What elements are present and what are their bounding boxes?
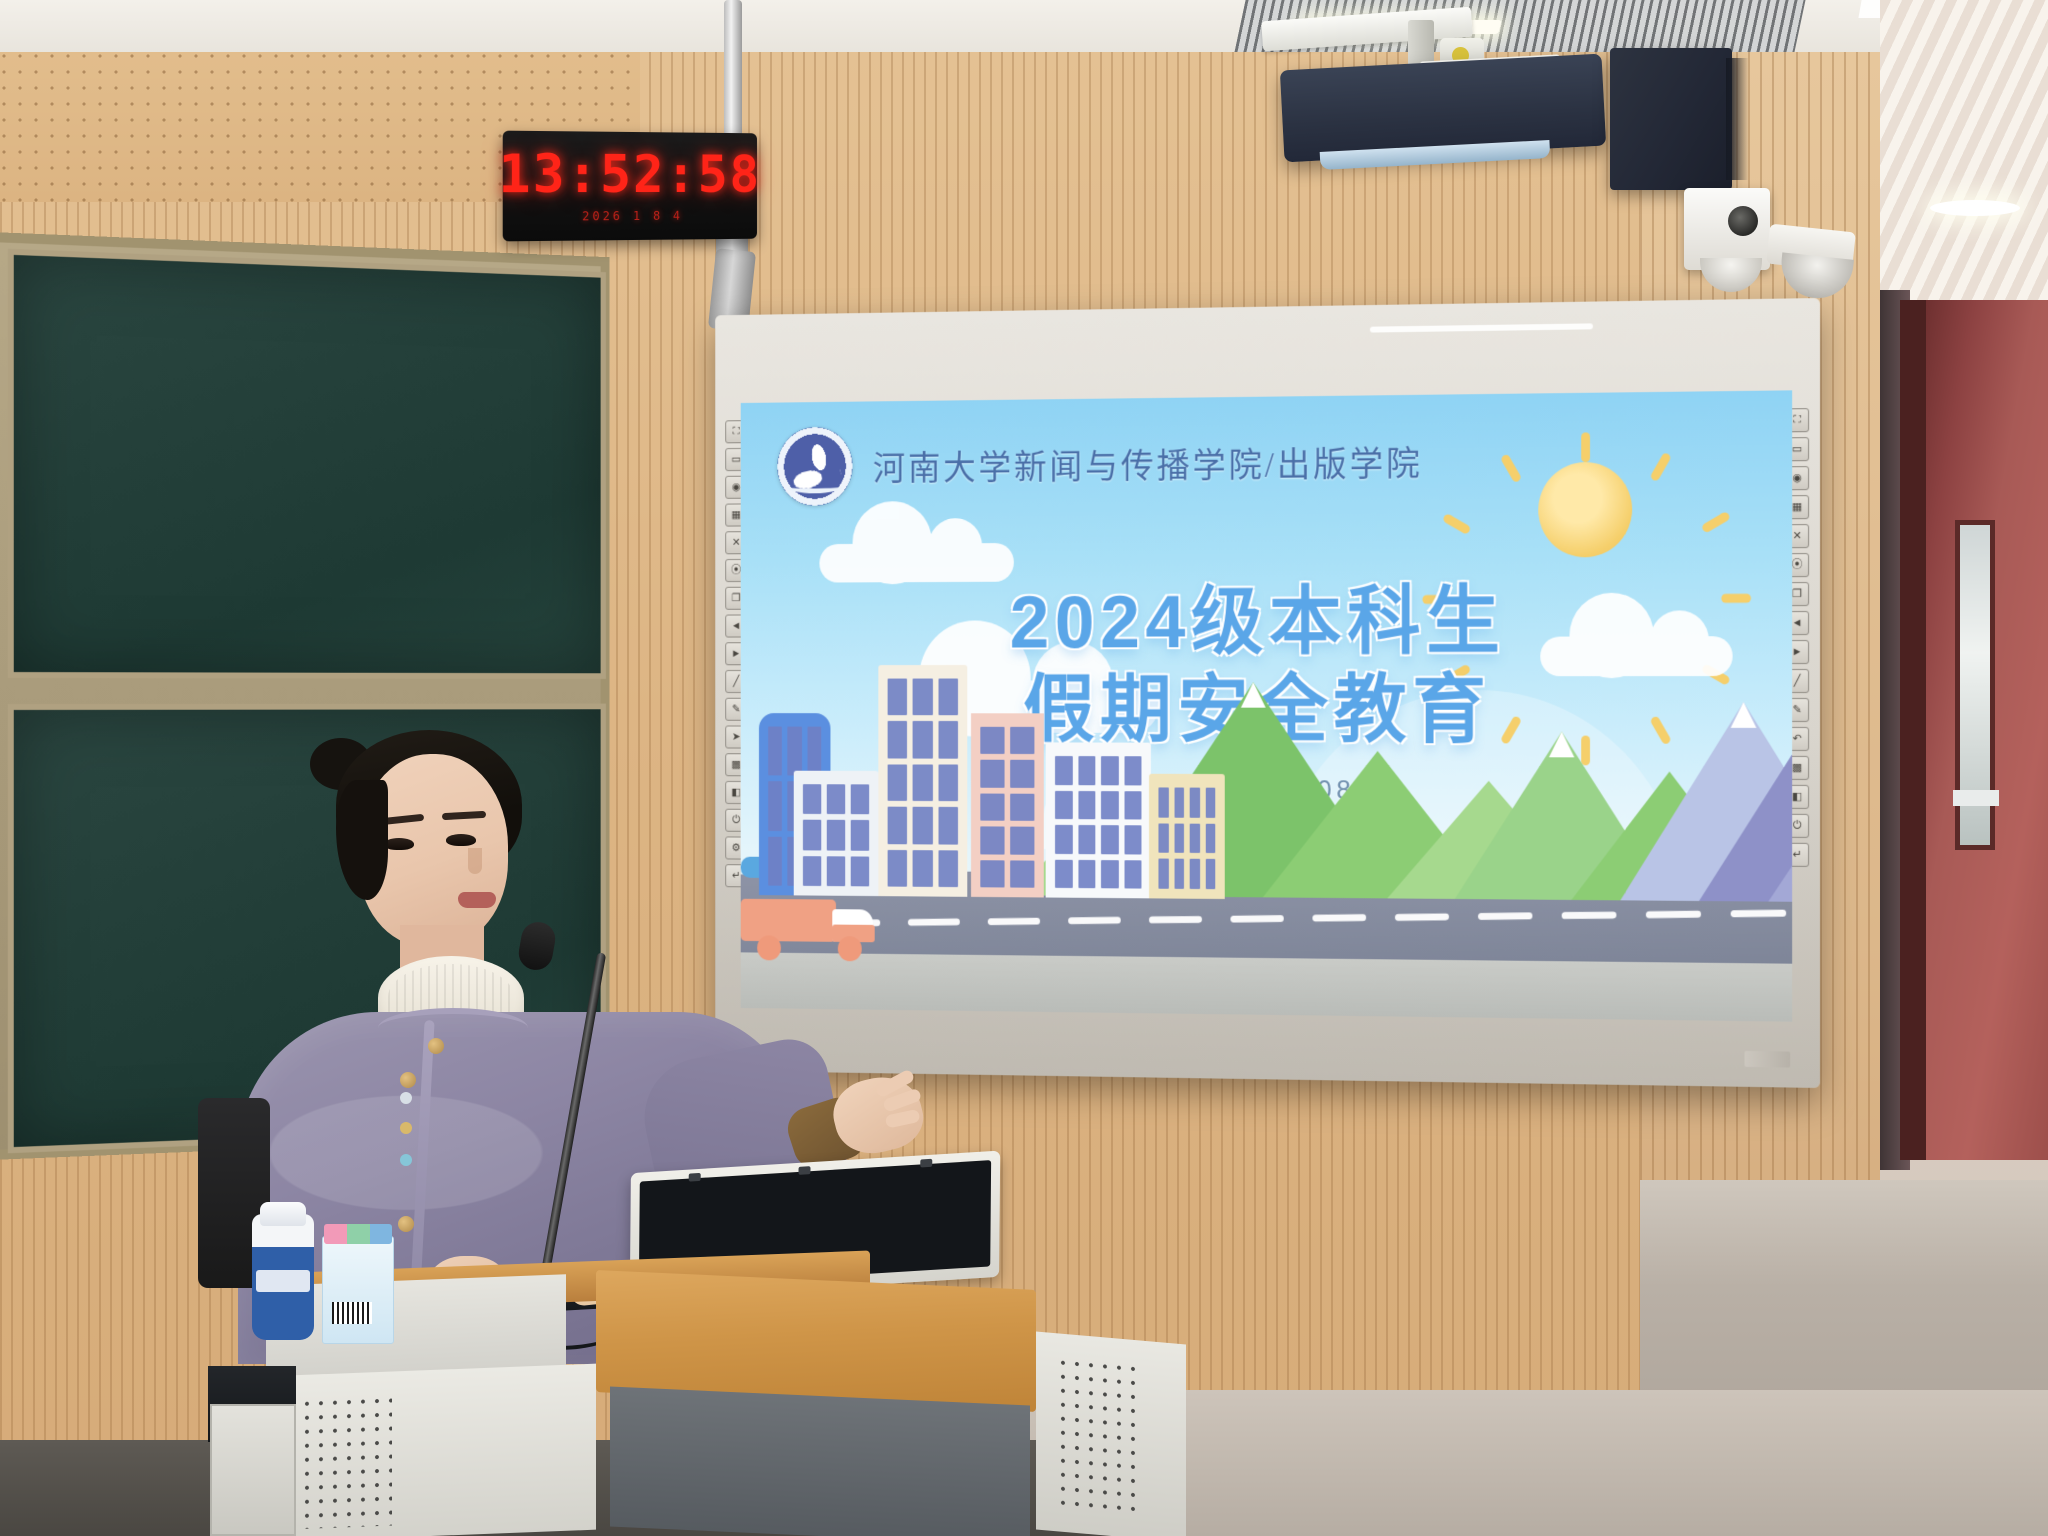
window (1010, 760, 1034, 788)
road-dash (1731, 910, 1787, 918)
window (1124, 791, 1141, 820)
window (1055, 756, 1072, 785)
corridor-ceiling (1880, 0, 2048, 300)
window (980, 860, 1004, 888)
iwb-bezel: 河南大学新闻与传播学院/出版学院 2024级本科生 假期安全教育 2026. 0… (741, 390, 1792, 1021)
window (938, 679, 958, 716)
road-dash (1068, 917, 1121, 924)
window (980, 827, 1004, 855)
window (1010, 827, 1034, 855)
building-windows (1158, 787, 1215, 889)
tissue-box-top (324, 1224, 392, 1244)
sun-icon (1538, 462, 1632, 558)
bottle-cap[interactable] (260, 1202, 306, 1226)
window (980, 727, 1004, 755)
window (1158, 859, 1168, 889)
window (913, 679, 933, 716)
window (1205, 788, 1215, 818)
window (1205, 823, 1215, 853)
window (1101, 791, 1118, 820)
window (1078, 791, 1095, 820)
finger (885, 1109, 921, 1129)
road-dash (1312, 914, 1366, 921)
jacket-pendant (400, 1092, 412, 1104)
road-dash (1395, 913, 1449, 920)
door-window-bar (1953, 790, 1999, 806)
ground-strip (741, 952, 1792, 1021)
window (851, 856, 869, 886)
road-dash (1230, 915, 1283, 922)
blackboard-panel-upper (8, 249, 606, 679)
slide-title-line-1: 2024级本科生 (741, 576, 1792, 667)
building-windows (980, 727, 1034, 888)
mountain-snowcap (1731, 702, 1757, 728)
window (1078, 825, 1095, 854)
window (1190, 823, 1200, 853)
monitor-clip (798, 1166, 810, 1175)
window (1055, 790, 1072, 819)
building-beige-short (1149, 774, 1225, 899)
clock-date-line: 2026 1 8 4 (582, 209, 683, 224)
window (980, 793, 1004, 821)
interactive-whiteboard[interactable]: ⛶▭◉▦✕⦿❐◄►╱✎➤▩◧⏻⚙↵ ⛶▭◉▦✕⦿❐◄►╱✎↶▩◧⏻↵ 河南大学新… (715, 298, 1820, 1088)
road-dash (908, 919, 960, 926)
led-clock: 13:52:58 2026 1 8 4 (503, 131, 757, 242)
jacket-button (428, 1038, 444, 1054)
nose (468, 848, 482, 874)
window (888, 850, 908, 887)
mountain-snowcap (1241, 682, 1266, 707)
clock-time: 13:52:58 (498, 148, 761, 201)
sun-ray (1700, 511, 1730, 534)
window (938, 721, 958, 758)
vent-holes (304, 1397, 392, 1528)
window (1174, 788, 1184, 818)
eye-left (384, 838, 414, 850)
building-windows (803, 784, 869, 886)
monitor-clip (689, 1173, 701, 1182)
road-dash (988, 918, 1040, 925)
building-windows (888, 679, 958, 888)
classroom-scene: 13:52:58 2026 1 8 4 ⛶▭◉▦✕⦿❐◄►╱✎➤▩◧⏻⚙↵ ⛶▭… (0, 0, 2048, 1536)
eye-right (446, 834, 476, 846)
window (1174, 823, 1184, 853)
window (1010, 860, 1034, 888)
window (1078, 756, 1095, 785)
building-pink-tall (971, 713, 1044, 897)
sun-ray (1499, 453, 1521, 483)
window (1101, 756, 1118, 785)
road-dash (1149, 916, 1202, 923)
slide-header: 河南大学新闻与传播学院/出版学院 (777, 420, 1422, 506)
window (1158, 787, 1168, 817)
presentation-slide: 河南大学新闻与传播学院/出版学院 2024级本科生 假期安全教育 2026. 0… (741, 390, 1792, 1021)
monitor-clip (920, 1159, 932, 1168)
window (888, 807, 908, 844)
window (1078, 859, 1095, 888)
wall-speaker-side (1726, 58, 1748, 180)
window (1124, 825, 1141, 854)
podium-front-panel (610, 1386, 1030, 1536)
window (1124, 860, 1141, 889)
window (888, 721, 908, 758)
university-logo-icon (777, 427, 852, 506)
jacket-button (400, 1072, 416, 1088)
window (1174, 859, 1184, 889)
window (913, 807, 933, 844)
iwb-status-light (1370, 323, 1593, 332)
window (851, 820, 869, 850)
window (938, 764, 958, 801)
lectern[interactable] (210, 1152, 1210, 1536)
window (827, 820, 845, 850)
logo-wave-glyph (788, 480, 842, 493)
window (1101, 825, 1118, 854)
window (938, 807, 958, 844)
building-white-mid (1046, 742, 1151, 898)
barcode (332, 1302, 372, 1324)
podium-side-left (266, 1364, 596, 1536)
window (1158, 823, 1168, 853)
slide-illustration (741, 662, 1792, 1022)
road-dash (1562, 912, 1617, 920)
mouth (458, 892, 496, 908)
window (980, 760, 1004, 788)
window (913, 850, 933, 887)
window (1190, 788, 1200, 818)
window (827, 856, 845, 886)
sun-ray (1581, 432, 1590, 462)
window (1055, 825, 1072, 854)
bottle-label (256, 1270, 310, 1292)
sun-ray (1442, 513, 1471, 535)
jacket-collar (378, 1008, 528, 1048)
window (851, 784, 869, 814)
vent-holes (1060, 1360, 1144, 1517)
eyebrow-right (442, 811, 486, 820)
window (913, 764, 933, 801)
window (888, 764, 908, 801)
cloud-icon (819, 543, 1013, 583)
window (827, 784, 845, 814)
podium-drawer[interactable] (210, 1404, 296, 1536)
window (888, 679, 908, 716)
window (1055, 859, 1072, 888)
podium-side-right (1036, 1331, 1186, 1536)
iwb-brand-logo (1745, 1051, 1791, 1068)
mountain (1768, 767, 1792, 903)
window (938, 850, 958, 887)
wall-speaker (1610, 48, 1732, 190)
sun-ray (1649, 452, 1671, 482)
window (1101, 860, 1118, 889)
organization-name: 河南大学新闻与传播学院/出版学院 (873, 436, 1423, 491)
window (1205, 859, 1215, 889)
building-windows (1055, 756, 1141, 889)
mountain-snowcap (1549, 732, 1574, 758)
road-dash (1646, 911, 1701, 919)
window (1010, 793, 1034, 821)
tissue-box[interactable] (322, 1236, 394, 1344)
hair-side (336, 780, 388, 900)
building-cream-tall (878, 665, 967, 897)
window (1124, 756, 1141, 785)
window (1010, 727, 1034, 755)
corridor-light (1930, 200, 2020, 216)
road-dash (1478, 912, 1532, 919)
window (913, 721, 933, 758)
window (1190, 859, 1200, 889)
